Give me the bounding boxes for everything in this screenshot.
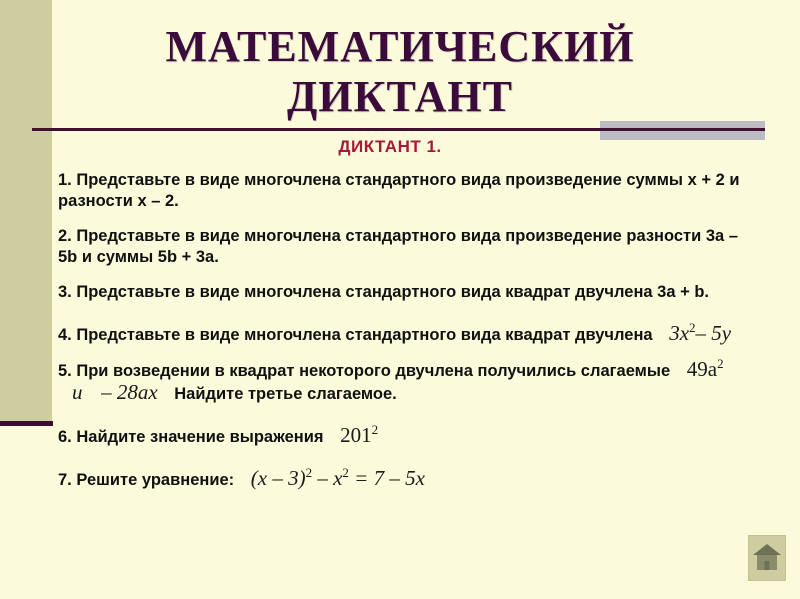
formula-part-3: = 7 – 5x bbox=[349, 466, 425, 490]
formula-part-1: (x – 3) bbox=[251, 466, 306, 490]
list-item: 1. Представьте в виде многочлена стандар… bbox=[58, 170, 758, 212]
question-number: 6. bbox=[58, 428, 72, 446]
list-item: 7. Решите уравнение: (x – 3)2 – x2 = 7 –… bbox=[58, 462, 758, 491]
question-text: Представьте в виде многочлена стандартно… bbox=[76, 326, 652, 344]
question-text: Решите уравнение: bbox=[76, 471, 234, 489]
list-item: 5. При возведении в квадрат некоторого д… bbox=[58, 353, 758, 405]
question-formula-first: 49a2 bbox=[687, 357, 724, 381]
formula-base: 49a bbox=[687, 357, 717, 381]
formula-base: 201 bbox=[340, 423, 372, 447]
slide-canvas: МАТЕМАТИЧЕСКИЙ ДИКТАНТ ДИКТАНТ 1. 1. Пре… bbox=[0, 0, 800, 599]
formula-exponent: 2 bbox=[717, 356, 724, 371]
question-text: Представьте в виде многочлена стандартно… bbox=[76, 283, 709, 301]
page-title-line2: ДИКТАНТ bbox=[60, 72, 740, 122]
question-formula: (x – 3)2 – x2 = 7 – 5x bbox=[251, 466, 425, 490]
question-formula-second: – 28ax bbox=[101, 380, 158, 404]
home-icon-door bbox=[765, 561, 770, 570]
question-formula: 2012 bbox=[340, 423, 378, 447]
formula-exponent: 2 bbox=[372, 422, 379, 437]
question-list: 1. Представьте в виде многочлена стандар… bbox=[58, 170, 758, 505]
question-text: Представьте в виде многочлена стандартно… bbox=[58, 171, 740, 210]
page-title: МАТЕМАТИЧЕСКИЙ ДИКТАНТ bbox=[60, 22, 740, 122]
question-number: 3. bbox=[58, 283, 72, 301]
title-divider bbox=[32, 128, 765, 131]
question-formula: 3x2– 5y bbox=[669, 321, 731, 345]
question-number: 1. bbox=[58, 171, 72, 189]
list-item: 6. Найдите значение выражения 2012 bbox=[58, 419, 758, 448]
question-number: 7. bbox=[58, 471, 72, 489]
home-button[interactable] bbox=[748, 535, 786, 581]
formula-conjunction: и bbox=[72, 380, 83, 404]
list-item: 4. Представьте в виде многочлена стандар… bbox=[58, 317, 758, 346]
question-number: 5. bbox=[58, 362, 72, 380]
list-item: 3. Представьте в виде многочлена стандар… bbox=[58, 282, 758, 303]
question-text-after: Найдите третье слагаемое. bbox=[174, 385, 396, 403]
list-item: 2. Представьте в виде многочлена стандар… bbox=[58, 226, 758, 268]
home-icon-roof bbox=[753, 544, 781, 555]
page-title-line1: МАТЕМАТИЧЕСКИЙ bbox=[166, 22, 635, 71]
question-number: 4. bbox=[58, 326, 72, 344]
question-number: 2. bbox=[58, 227, 72, 245]
formula-tail: – 5y bbox=[696, 321, 732, 345]
formula-part-2: – x bbox=[312, 466, 342, 490]
question-text: При возведении в квадрат некоторого двуч… bbox=[76, 362, 670, 380]
question-text: Найдите значение выражения bbox=[76, 428, 323, 446]
formula-base: 3x bbox=[669, 321, 689, 345]
question-text: Представьте в виде многочлена стандартно… bbox=[58, 227, 738, 266]
decorative-left-band-rule bbox=[0, 421, 53, 426]
subtitle: ДИКТАНТ 1. bbox=[60, 137, 720, 157]
decorative-left-band bbox=[0, 0, 52, 423]
